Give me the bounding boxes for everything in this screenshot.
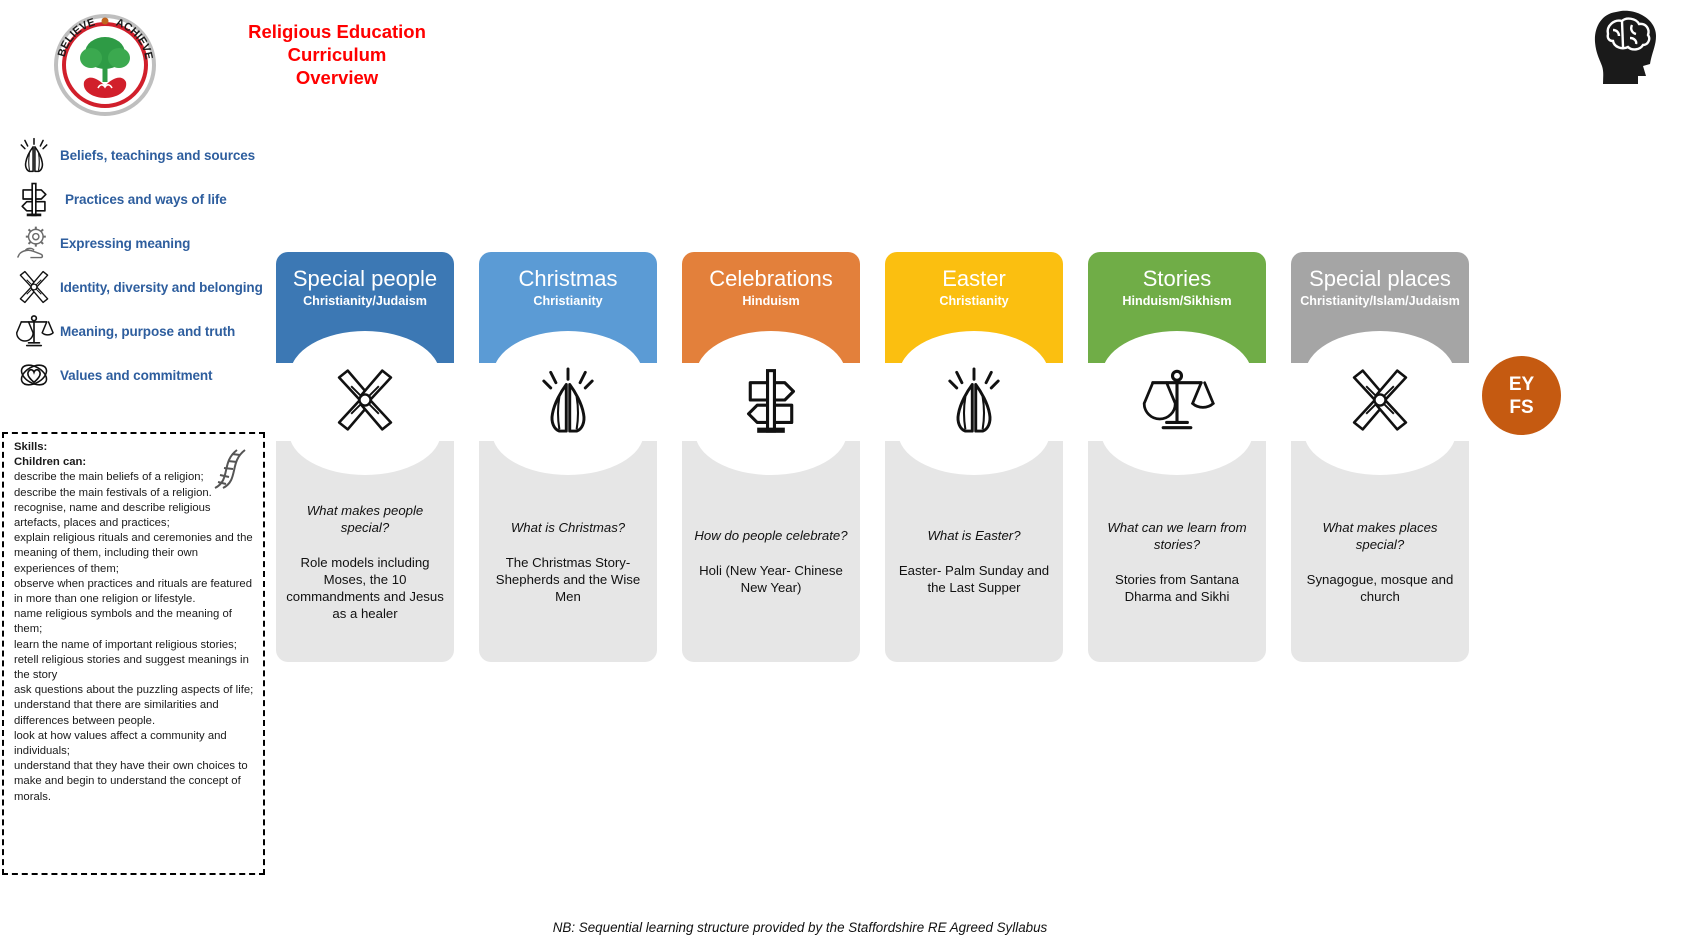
topic-card-celebrations[interactable]: Celebrations Hinduism How do people cel bbox=[682, 252, 860, 363]
balance-scales-icon bbox=[1088, 357, 1266, 442]
footer-note-text: NB: Sequential learning structure provid… bbox=[553, 920, 1048, 935]
topic-detail: Easter- Palm Sunday and the Last Supper bbox=[895, 562, 1053, 596]
topic-title: Special places bbox=[1291, 266, 1469, 291]
topic-title: Christmas bbox=[479, 266, 657, 291]
topic-question: What makes places special? bbox=[1301, 519, 1459, 553]
topic-card-header: Special people Christianity/Judaism bbox=[276, 252, 454, 363]
topic-subtitle: Christianity bbox=[479, 293, 657, 309]
legend-item-label: Identity, diversity and belonging bbox=[60, 280, 263, 295]
body-notch bbox=[695, 441, 847, 475]
tree-in-hands-logo: BELIEVE ACHIEVE bbox=[48, 8, 163, 118]
topic-card-body: How do people celebrate? Holi (New Year-… bbox=[682, 441, 860, 662]
topic-card-special-places[interactable]: Special places Christianity/Islam/Judais… bbox=[1291, 252, 1469, 363]
topic-title: Special people bbox=[276, 266, 454, 291]
dna-helix-icon bbox=[205, 444, 247, 490]
signpost-cross-icon bbox=[8, 178, 60, 220]
skills-item: understand that they have their own choi… bbox=[14, 759, 256, 805]
body-notch bbox=[289, 441, 441, 475]
topic-subtitle: Christianity bbox=[885, 293, 1063, 309]
skills-item: understand that there are similarities a… bbox=[14, 698, 256, 728]
skills-item: explain religious rituals and ceremonies… bbox=[14, 531, 256, 577]
skills-item: ask questions about the puzzling aspects… bbox=[14, 683, 256, 698]
skills-item: recognise, name and describe religious a… bbox=[14, 501, 256, 531]
crossed-hands-tools-icon bbox=[1291, 357, 1469, 442]
topic-card-header: Special places Christianity/Islam/Judais… bbox=[1291, 252, 1469, 363]
topic-card-christmas[interactable]: Christmas Christianity bbox=[479, 252, 657, 363]
praying-hands-icon bbox=[885, 357, 1063, 442]
legend-item-label: Practices and ways of life bbox=[60, 192, 227, 207]
topic-subtitle: Christianity/Judaism bbox=[276, 293, 454, 309]
legend-item-label: Expressing meaning bbox=[60, 236, 190, 251]
signpost-cross-icon bbox=[682, 357, 860, 442]
skills-item: look at how values affect a community an… bbox=[14, 729, 256, 759]
legend-item-identity: Identity, diversity and belonging bbox=[8, 265, 278, 309]
topic-title: Easter bbox=[885, 266, 1063, 291]
topic-card-body: What makes places special? Synagogue, mo… bbox=[1291, 441, 1469, 662]
topic-question: What can we learn from stories? bbox=[1098, 519, 1256, 553]
head-with-brain-icon bbox=[1586, 6, 1682, 92]
curriculum-overview-page: BELIEVE ACHIEVE Religious Education Curr… bbox=[0, 0, 1684, 943]
skills-item: learn the name of important religious st… bbox=[14, 638, 256, 653]
legend-item-practices: Practices and ways of life bbox=[8, 177, 278, 221]
legend-item-label: Values and commitment bbox=[60, 368, 212, 383]
body-notch bbox=[492, 441, 644, 475]
topic-card-body: What is Christmas? The Christmas Story- … bbox=[479, 441, 657, 662]
topic-card-header: Celebrations Hinduism bbox=[682, 252, 860, 363]
topic-card-special-people[interactable]: Special people Christianity/Judaism bbox=[276, 252, 454, 363]
hand-with-gear-icon bbox=[8, 222, 60, 264]
topic-card-row: Special people Christianity/Judaism bbox=[276, 252, 1476, 662]
balance-scales-icon bbox=[8, 310, 60, 352]
crossed-hands-tools-icon bbox=[276, 357, 454, 442]
topic-question: How do people celebrate? bbox=[694, 527, 847, 544]
topic-card-easter[interactable]: Easter Christianity bbox=[885, 252, 1063, 363]
crossed-hands-tools-icon bbox=[8, 266, 60, 308]
legend-item-beliefs: Beliefs, teachings and sources bbox=[8, 133, 278, 177]
topic-subtitle: Hinduism bbox=[682, 293, 860, 309]
key-stage-badge: EY FS bbox=[1482, 356, 1561, 435]
key-stage-line-1: EY bbox=[1509, 373, 1534, 396]
topic-subtitle: Hinduism/Sikhism bbox=[1088, 293, 1266, 309]
page-title-line-1: Religious Education Curriculum bbox=[206, 20, 468, 66]
body-notch bbox=[898, 441, 1050, 475]
body-notch bbox=[1101, 441, 1253, 475]
legend-item-label: Beliefs, teachings and sources bbox=[60, 148, 255, 163]
topic-card-body: What is Easter? Easter- Palm Sunday and … bbox=[885, 441, 1063, 662]
legend-item-values: Values and commitment bbox=[8, 353, 278, 397]
topic-card-body: What can we learn from stories? Stories … bbox=[1088, 441, 1266, 662]
school-logo: BELIEVE ACHIEVE bbox=[48, 8, 163, 118]
topic-detail: Holi (New Year- Chinese New Year) bbox=[692, 562, 850, 596]
legend-item-meaning-purpose: Meaning, purpose and truth bbox=[8, 309, 278, 353]
praying-hands-icon bbox=[8, 134, 60, 176]
heart-atom-icon bbox=[8, 354, 60, 396]
topic-card-header: Easter Christianity bbox=[885, 252, 1063, 363]
topic-detail: The Christmas Story- Shepherds and the W… bbox=[489, 554, 647, 605]
skills-panel: Skills: Children can: describe the main … bbox=[2, 432, 265, 875]
topic-question: What makes people special? bbox=[286, 502, 444, 536]
topic-card-header: Christmas Christianity bbox=[479, 252, 657, 363]
footer-note: NB: Sequential learning structure provid… bbox=[0, 920, 1684, 935]
topic-card-stories[interactable]: Stories Hinduism/Sikhism bbox=[1088, 252, 1266, 363]
skills-list: describe the main beliefs of a religion;… bbox=[14, 470, 256, 804]
legend-item-label: Meaning, purpose and truth bbox=[60, 324, 235, 339]
topic-subtitle: Christianity/Islam/Judaism bbox=[1291, 293, 1469, 309]
page-title: Religious Education Curriculum Overview bbox=[206, 20, 468, 89]
topic-card-body: What makes people special? Role models i… bbox=[276, 441, 454, 662]
skills-item: name religious symbols and the meaning o… bbox=[14, 607, 256, 637]
topic-detail: Stories from Santana Dharma and Sikhi bbox=[1098, 571, 1256, 605]
strand-legend: Beliefs, teachings and sources Practices… bbox=[8, 133, 278, 397]
topic-detail: Synagogue, mosque and church bbox=[1301, 571, 1459, 605]
topic-title: Stories bbox=[1088, 266, 1266, 291]
praying-hands-icon bbox=[479, 357, 657, 442]
skills-item: observe when practices and rituals are f… bbox=[14, 577, 256, 607]
topic-detail: Role models including Moses, the 10 comm… bbox=[286, 554, 444, 622]
topic-card-header: Stories Hinduism/Sikhism bbox=[1088, 252, 1266, 363]
legend-item-expressing-meaning: Expressing meaning bbox=[8, 221, 278, 265]
topic-question: What is Christmas? bbox=[511, 519, 625, 536]
skills-item: retell religious stories and suggest mea… bbox=[14, 653, 256, 683]
topic-title: Celebrations bbox=[682, 266, 860, 291]
page-title-line-2: Overview bbox=[206, 66, 468, 89]
topic-question: What is Easter? bbox=[927, 527, 1020, 544]
body-notch bbox=[1304, 441, 1456, 475]
key-stage-line-2: FS bbox=[1509, 396, 1533, 419]
